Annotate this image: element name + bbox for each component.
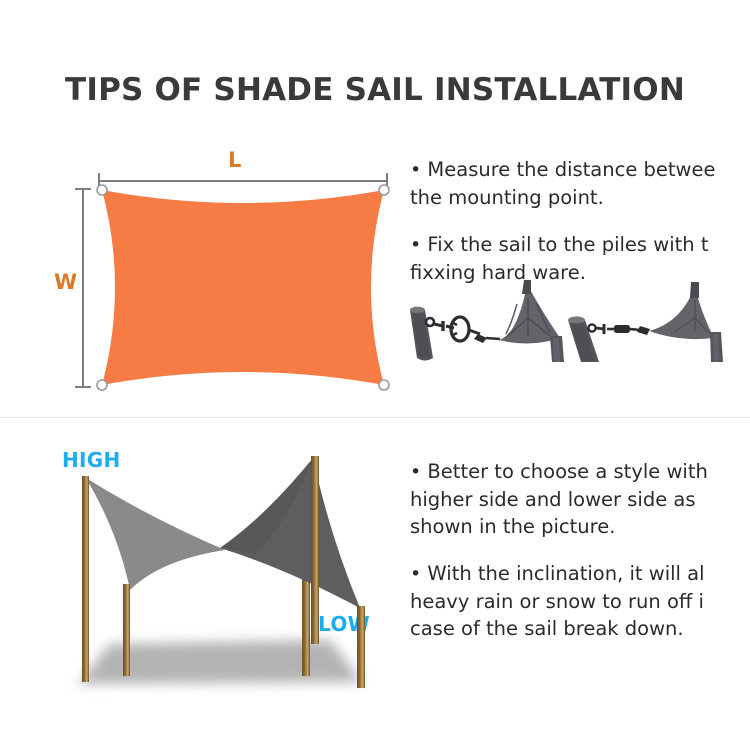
bullet-icon: • [410, 461, 421, 483]
sail-body [102, 190, 384, 385]
support-post-icon [710, 332, 723, 362]
tip-lower-1-line-1: Better to choose a style with [427, 460, 707, 483]
sail-corner-shape [499, 280, 560, 344]
bullet-icon: • [410, 234, 421, 256]
eye-bolt-icon [588, 324, 595, 331]
grommet-icon [97, 185, 107, 195]
ground-shadow [78, 640, 362, 684]
tension-cord [486, 338, 500, 339]
shade-sail-left [86, 478, 225, 590]
mounting-post-icon [568, 316, 599, 362]
tip-upper-1: • Measure the distance betwee the mounti… [410, 156, 716, 211]
grommet-icon [379, 185, 389, 195]
turnbuckle-icon [596, 324, 614, 334]
page-title: TIPS OF SHADE SAIL INSTALLATION [0, 72, 750, 108]
grommet-icon [97, 380, 107, 390]
pole-low-front [123, 584, 130, 676]
tip-lower-2-line-2: heavy rain or snow to run off i [410, 590, 704, 613]
fitting-plate-icon [637, 326, 650, 335]
corner-post-icon [522, 280, 531, 294]
length-dimension-label: L [228, 148, 241, 172]
width-dimension-cap-top [75, 188, 91, 190]
tip-lower-1-line-3: shown in the picture. [410, 515, 615, 538]
tip-upper-1-line-1: Measure the distance betwee [427, 158, 715, 181]
corner-post-icon [690, 282, 699, 298]
tip-lower-1: • Better to choose a style with higher s… [410, 458, 708, 540]
hardware-illustration-left [400, 278, 575, 362]
hardware-illustration-right [562, 276, 750, 362]
width-dimension-cap-bottom [75, 386, 91, 388]
mounting-post-icon [410, 307, 433, 361]
turnbuckle-body-icon [614, 325, 630, 333]
eye-bolt-icon [426, 318, 434, 326]
width-dimension-line [82, 188, 84, 388]
pole-high-right [311, 456, 319, 644]
infographic-page: TIPS OF SHADE SAIL INSTALLATION L W • [0, 0, 750, 750]
bullet-icon: • [410, 563, 421, 585]
tip-lower-2: • With the inclination, it will al heavy… [410, 560, 705, 642]
pole-back-right [302, 572, 310, 676]
pole-high-left [82, 476, 89, 682]
sail-corner-shape [649, 282, 714, 339]
inclined-sail-scene: HIGH LOW [30, 432, 410, 702]
rectangular-sail-diagram: L W [40, 140, 400, 405]
orange-shade-sail-shape [92, 180, 394, 395]
tip-upper-2-line-1: Fix the sail to the piles with t [427, 233, 708, 256]
section-divider [0, 417, 750, 418]
tip-lower-2-line-3: case of the sail break down. [410, 617, 684, 640]
bullet-icon: • [410, 159, 421, 181]
fitting-plate-icon [474, 334, 487, 343]
width-dimension-label: W [54, 270, 77, 294]
pole-low-right [357, 606, 365, 688]
turnbuckle-icon [434, 317, 480, 341]
inclined-sail-svg [30, 432, 410, 702]
grommet-icon [379, 380, 389, 390]
tip-upper-1-line-2: the mounting point. [410, 186, 604, 209]
tip-lower-2-line-1: With the inclination, it will al [427, 562, 704, 585]
tip-lower-1-line-2: higher side and lower side as [410, 488, 696, 511]
